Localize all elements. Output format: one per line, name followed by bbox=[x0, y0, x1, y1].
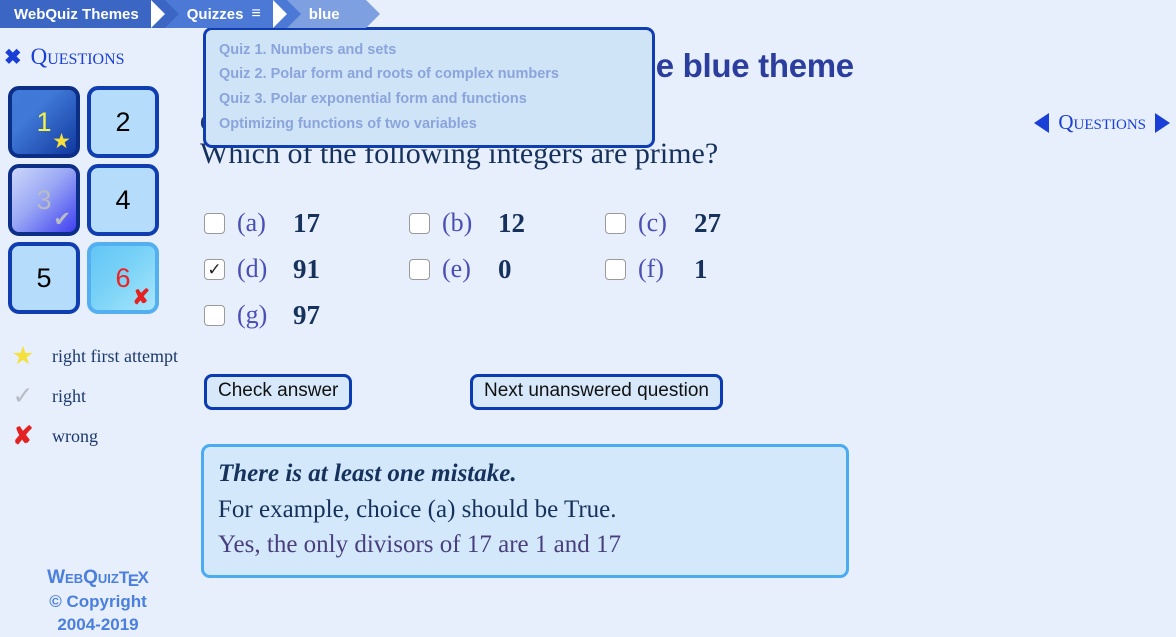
answer-letter-e: (e) bbox=[442, 254, 480, 284]
close-icon[interactable]: ✖ bbox=[4, 47, 22, 68]
question-button-grid: 1 ★ 2 3 ✔ 4 5 6 ✘ bbox=[0, 86, 168, 314]
feedback-line-3: Yes, the only divisors of 17 are 1 and 1… bbox=[218, 527, 832, 563]
answer-option-a[interactable]: (a) 17 bbox=[204, 200, 409, 246]
question-button-3[interactable]: 3 ✔ bbox=[8, 164, 80, 236]
answer-option-f[interactable]: (f) 1 bbox=[605, 246, 801, 292]
question-button-number: 1 bbox=[36, 109, 51, 136]
answer-option-e[interactable]: (e) 0 bbox=[409, 246, 605, 292]
breadcrumb-label-blue: blue bbox=[309, 6, 340, 23]
quiz-dropdown-menu[interactable]: Quiz 1. Numbers and sets Quiz 2. Polar f… bbox=[203, 27, 655, 148]
quiz-dropdown-item[interactable]: Optimizing functions of two variables bbox=[206, 112, 652, 137]
legend-label: right first attempt bbox=[52, 345, 178, 368]
questions-header-label: Questions bbox=[31, 44, 125, 70]
footer-brand-name: WebQuiz bbox=[47, 567, 119, 588]
hamburger-icon[interactable]: ≡ bbox=[251, 6, 260, 22]
answer-checkbox-b[interactable] bbox=[409, 213, 430, 234]
answer-option-b[interactable]: (b) 12 bbox=[409, 200, 605, 246]
triangle-left-icon[interactable] bbox=[1034, 113, 1049, 133]
answer-value-b: 12 bbox=[492, 208, 525, 239]
legend-label: wrong bbox=[52, 425, 98, 448]
answer-option-c[interactable]: (c) 27 bbox=[605, 200, 801, 246]
question-button-5[interactable]: 5 bbox=[8, 242, 80, 314]
answer-options: (a) 17 (b) 12 (c) 27 ✓ (d) 91 (e) 0 (f) … bbox=[204, 200, 801, 338]
question-button-6[interactable]: 6 ✘ bbox=[87, 242, 159, 314]
answer-checkbox-d[interactable]: ✓ bbox=[204, 259, 225, 280]
feedback-line-2: For example, choice (a) should be True. bbox=[218, 492, 832, 528]
answer-value-a: 17 bbox=[287, 208, 320, 239]
legend: ★ right first attempt ✓ right ✘ wrong bbox=[0, 336, 196, 456]
answer-value-d: 91 bbox=[287, 254, 320, 285]
footer: WebQuizTEX © Copyright 2004-2019 bbox=[0, 565, 196, 637]
answer-value-c: 27 bbox=[688, 208, 721, 239]
question-button-1[interactable]: 1 ★ bbox=[8, 86, 80, 158]
answer-value-e: 0 bbox=[492, 254, 512, 285]
answer-checkbox-g[interactable] bbox=[204, 305, 225, 326]
breadcrumb-label-quizzes: Quizzes bbox=[187, 6, 244, 23]
answer-letter-f: (f) bbox=[638, 254, 676, 284]
quiz-dropdown-item[interactable]: Quiz 1. Numbers and sets bbox=[206, 38, 652, 63]
check-icon: ✓ bbox=[6, 384, 40, 409]
answer-letter-b: (b) bbox=[442, 208, 480, 238]
footer-brand-e: E bbox=[128, 570, 139, 593]
questions-header: ✖ Questions bbox=[0, 40, 196, 74]
answer-checkbox-a[interactable] bbox=[204, 213, 225, 234]
answer-checkbox-c[interactable] bbox=[605, 213, 626, 234]
footer-years: 2004-2019 bbox=[0, 614, 196, 637]
breadcrumb-item-themes[interactable]: WebQuiz Themes bbox=[0, 0, 165, 28]
answer-letter-c: (c) bbox=[638, 208, 676, 238]
check-answer-button[interactable]: Check answer bbox=[204, 374, 352, 410]
question-button-2[interactable]: 2 bbox=[87, 86, 159, 158]
breadcrumb-label-themes: WebQuiz Themes bbox=[14, 6, 139, 23]
feedback-box: There is at least one mistake. For examp… bbox=[201, 444, 849, 578]
question-button-number: 5 bbox=[36, 265, 51, 292]
questions-nav: Questions bbox=[1034, 110, 1170, 135]
star-icon: ★ bbox=[6, 344, 40, 369]
legend-item-right-first: ★ right first attempt bbox=[6, 336, 196, 376]
quiz-dropdown-item[interactable]: Quiz 2. Polar form and roots of complex … bbox=[206, 63, 652, 88]
answer-value-g: 97 bbox=[287, 300, 320, 331]
star-icon: ★ bbox=[52, 131, 71, 152]
answer-letter-d: (d) bbox=[237, 254, 275, 284]
question-button-number: 3 bbox=[36, 187, 51, 214]
legend-label: right bbox=[52, 385, 86, 408]
next-unanswered-question-button[interactable]: Next unanswered question bbox=[470, 374, 723, 410]
questions-nav-label[interactable]: Questions bbox=[1058, 110, 1146, 135]
cross-icon: ✘ bbox=[132, 287, 150, 308]
answer-option-d[interactable]: ✓ (d) 91 bbox=[204, 246, 409, 292]
question-button-number: 2 bbox=[115, 109, 130, 136]
feedback-line-1: There is at least one mistake. bbox=[218, 456, 832, 492]
question-button-number: 4 bbox=[115, 187, 130, 214]
quiz-dropdown-item[interactable]: Quiz 3. Polar exponential form and funct… bbox=[206, 88, 652, 113]
triangle-right-icon[interactable] bbox=[1155, 113, 1170, 133]
answer-checkbox-f[interactable] bbox=[605, 259, 626, 280]
legend-item-right: ✓ right bbox=[6, 376, 196, 416]
action-buttons: Check answer Next unanswered question bbox=[204, 374, 904, 408]
footer-brand: WebQuizTEX bbox=[0, 565, 196, 591]
sidebar: ✖ Questions 1 ★ 2 3 ✔ 4 5 6 ✘ ★ right fi… bbox=[0, 40, 196, 619]
question-button-number: 6 bbox=[115, 265, 130, 292]
legend-item-wrong: ✘ wrong bbox=[6, 416, 196, 456]
answer-letter-g: (g) bbox=[237, 300, 275, 330]
footer-copyright: © Copyright bbox=[0, 591, 196, 614]
answer-letter-a: (a) bbox=[237, 208, 275, 238]
answer-checkbox-e[interactable] bbox=[409, 259, 430, 280]
footer-brand-x: X bbox=[138, 568, 149, 587]
breadcrumb: WebQuiz Themes Quizzes ≡ blue bbox=[0, 0, 1176, 28]
check-icon: ✔ bbox=[53, 209, 71, 230]
question-button-4[interactable]: 4 bbox=[87, 164, 159, 236]
breadcrumb-item-quizzes[interactable]: Quizzes ≡ bbox=[165, 0, 287, 28]
cross-icon: ✘ bbox=[6, 424, 40, 449]
answer-option-g[interactable]: (g) 97 bbox=[204, 292, 409, 338]
answer-value-f: 1 bbox=[688, 254, 708, 285]
